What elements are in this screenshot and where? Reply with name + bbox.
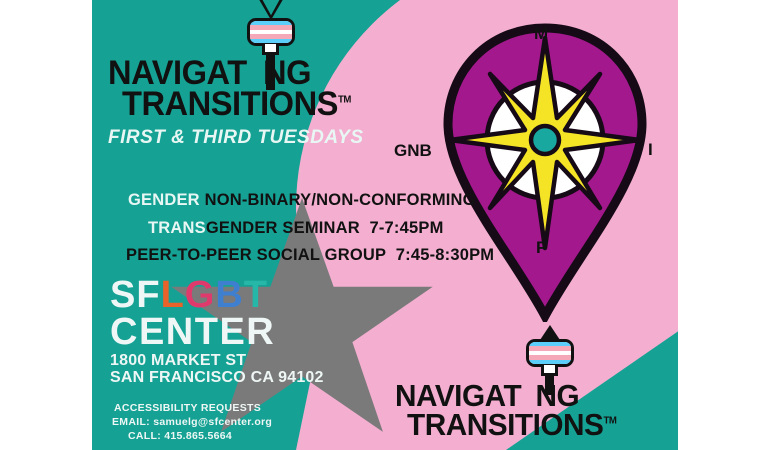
trademark-symbol-top: TM [338,95,351,106]
schedule-line-1: GENDER NON-BINARY/NON-CONFORMING [128,192,678,209]
address-line-2: SAN FRANCISCO CA 94102 [110,369,324,386]
sf-lgbt-center-logo: SFLGBT CENTER 1800 MARKET STSAN FRANCISC… [110,278,324,387]
compass-map-pin-icon [440,22,650,322]
compass-label-south: F [536,238,546,258]
logo-bottom-line2: TRANSITIONSTM [407,411,616,440]
poster-canvas: M I F GNB NAVIGATNG TRANSITIONSTM FIRST … [0,0,770,450]
logo-top-tagline: FIRST & THIRD TUESDAYS [108,127,408,149]
pin-top-trans-flag-head [247,18,295,46]
accessibility-email-row: EMAIL: samuelg@sfcenter.org [112,416,272,430]
address-line-1: 1800 MARKET ST [110,352,246,369]
accessibility-phone-row: CALL: 415.865.5664 [128,430,272,444]
schedule-line-1-rest: NON-BINARY/NON-CONFORMING [200,191,476,209]
email-label: EMAIL: [112,416,150,428]
lgbt-letter-l: L [161,274,185,316]
sf-lgbt-row: SFLGBT [110,278,324,313]
compass-label-west: GNB [394,141,432,161]
map-pin-top-icon [243,0,299,90]
phone-number[interactable]: 415.865.5664 [164,430,232,442]
compass-label-north: M [534,24,548,44]
accessibility-block: ACCESSIBILITY REQUESTS EMAIL: samuelg@sf… [112,402,272,444]
accessibility-heading: ACCESSIBILITY REQUESTS [114,402,272,416]
lgbt-letter-g: G [185,274,216,316]
pin-top-arrow [257,0,285,20]
pin-bottom-notch [541,365,558,376]
compass-label-east: I [648,140,653,160]
pin-top-notch [262,44,279,55]
schedule-line-3: PEER-TO-PEER SOCIAL GROUP 7:45-8:30PM [126,247,678,264]
email-address[interactable]: samuelg@sfcenter.org [153,416,272,428]
sf-text: SF [110,274,161,316]
sf-address: 1800 MARKET STSAN FRANCISCO CA 94102 [110,353,324,387]
navigating-transitions-logo-bottom: NAVIGATNG TRANSITIONSTM [395,382,625,439]
pin-bottom-trans-flag-head [526,339,574,367]
logo-top-line2: TRANSITIONSTM [122,89,397,120]
call-label: CALL: [128,430,161,442]
lgbt-letter-b: B [215,274,243,316]
trademark-symbol-bottom: TM [603,415,616,426]
schedule-line-2: TRANSGENDER SEMINAR 7-7:45PM [148,220,678,237]
right-white-margin [678,0,770,450]
center-text: CENTER [110,314,324,350]
schedule-text-block: GENDER NON-BINARY/NON-CONFORMING TRANSGE… [0,192,678,275]
lgbt-letter-t: T [244,274,268,316]
